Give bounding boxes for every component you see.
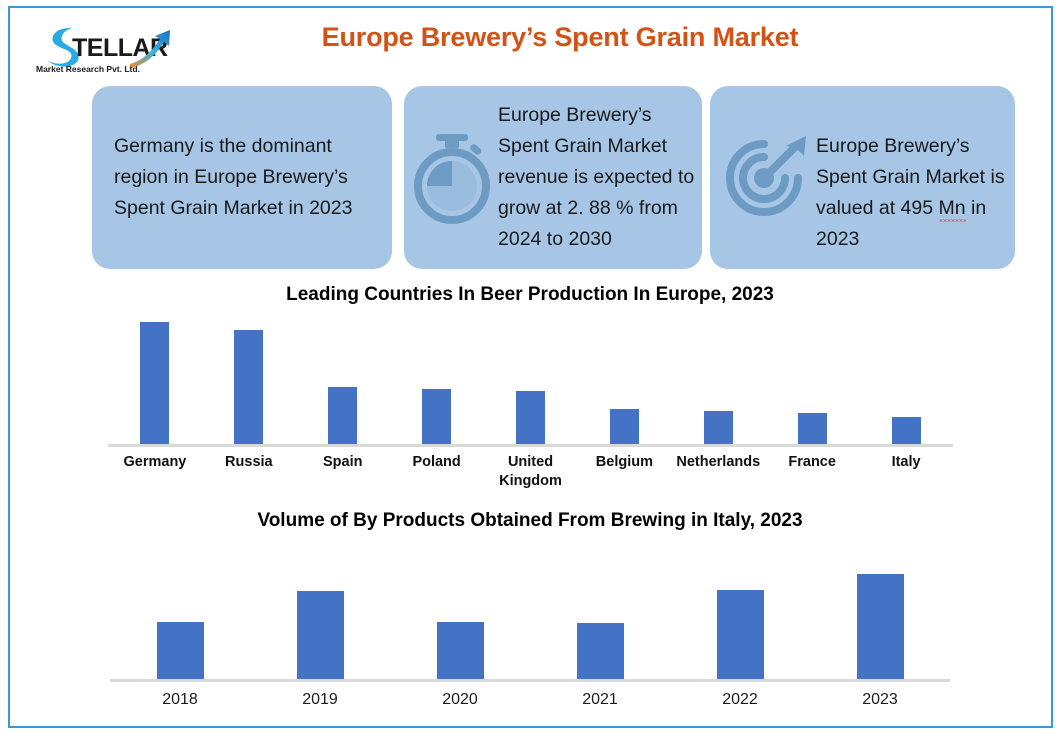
chart1-plot-area [108, 312, 953, 447]
bar-slot [577, 312, 671, 444]
logo-tagline-text: Market Research Pvt. Ltd. [36, 64, 140, 74]
bar [516, 391, 545, 444]
target-arrow-icon [720, 132, 808, 224]
category-label: 2019 [250, 690, 390, 709]
chart1-title: Leading Countries In Beer Production In … [100, 284, 960, 306]
bar [437, 622, 484, 679]
chart1-category-labels: GermanyRussiaSpainPolandUnited KingdomBe… [108, 453, 953, 491]
category-label: Italy [859, 453, 953, 491]
category-label: France [765, 453, 859, 491]
bar [610, 409, 639, 444]
info-card-dominant-region-text: Germany is the dominant region in Europe… [92, 131, 392, 224]
bar-slot [859, 312, 953, 444]
bar [857, 574, 904, 679]
bar-slot [765, 312, 859, 444]
bar [717, 590, 764, 679]
category-label: Poland [390, 453, 484, 491]
category-label: United Kingdom [484, 453, 578, 491]
category-label: Russia [202, 453, 296, 491]
bar-slot [108, 312, 202, 444]
info-card-cagr-text: Europe Brewery’s Spent Grain Market reve… [496, 100, 702, 255]
infographic-page: TELLAR Market Research Pvt. Ltd. Europe … [0, 0, 1061, 734]
category-label: 2020 [390, 690, 530, 709]
category-label: Netherlands [671, 453, 765, 491]
category-label: 2021 [530, 690, 670, 709]
category-label: Belgium [577, 453, 671, 491]
chart2-bars [110, 560, 950, 679]
chart2-category-labels: 201820192020202120222023 [110, 690, 950, 709]
info-card-market-value: Europe Brewery’s Spent Grain Market is v… [710, 86, 1015, 269]
bar [157, 622, 204, 679]
bar [328, 387, 357, 444]
stellar-logo-svg: TELLAR Market Research Pvt. Ltd. [34, 20, 184, 76]
chart2-plot-area [110, 560, 950, 682]
info-card-dominant-region: Germany is the dominant region in Europe… [92, 86, 392, 269]
bar [892, 417, 921, 444]
category-label: 2022 [670, 690, 810, 709]
bar [798, 413, 827, 444]
info-card-market-value-misspelled-word: Mn [939, 197, 966, 222]
bar-slot [110, 560, 250, 679]
info-card-cagr: Europe Brewery’s Spent Grain Market reve… [404, 86, 702, 269]
bar-slot [670, 560, 810, 679]
category-label: Spain [296, 453, 390, 491]
bar-slot [671, 312, 765, 444]
bar-slot [810, 560, 950, 679]
stopwatch-icon [410, 132, 494, 224]
bar-slot [390, 560, 530, 679]
bar [704, 411, 733, 444]
bar-slot [202, 312, 296, 444]
bar [297, 591, 344, 679]
bar-slot [250, 560, 390, 679]
info-card-market-value-text: Europe Brewery’s Spent Grain Market is v… [812, 100, 1015, 255]
bar [140, 322, 169, 444]
bar-slot [530, 560, 670, 679]
bar [234, 330, 263, 444]
bar [577, 623, 624, 679]
chart1-axis-line [108, 444, 953, 447]
bar-slot [296, 312, 390, 444]
chart1-bars [108, 312, 953, 444]
category-label: Germany [108, 453, 202, 491]
category-label: 2023 [810, 690, 950, 709]
category-label: 2018 [110, 690, 250, 709]
bar-slot [484, 312, 578, 444]
bar [422, 389, 451, 444]
stellar-logo[interactable]: TELLAR Market Research Pvt. Ltd. [34, 20, 184, 76]
chart2-axis-line [110, 679, 950, 682]
chart2-title: Volume of By Products Obtained From Brew… [100, 510, 960, 532]
bar-slot [390, 312, 484, 444]
page-title: Europe Brewery’s Spent Grain Market [250, 22, 870, 53]
